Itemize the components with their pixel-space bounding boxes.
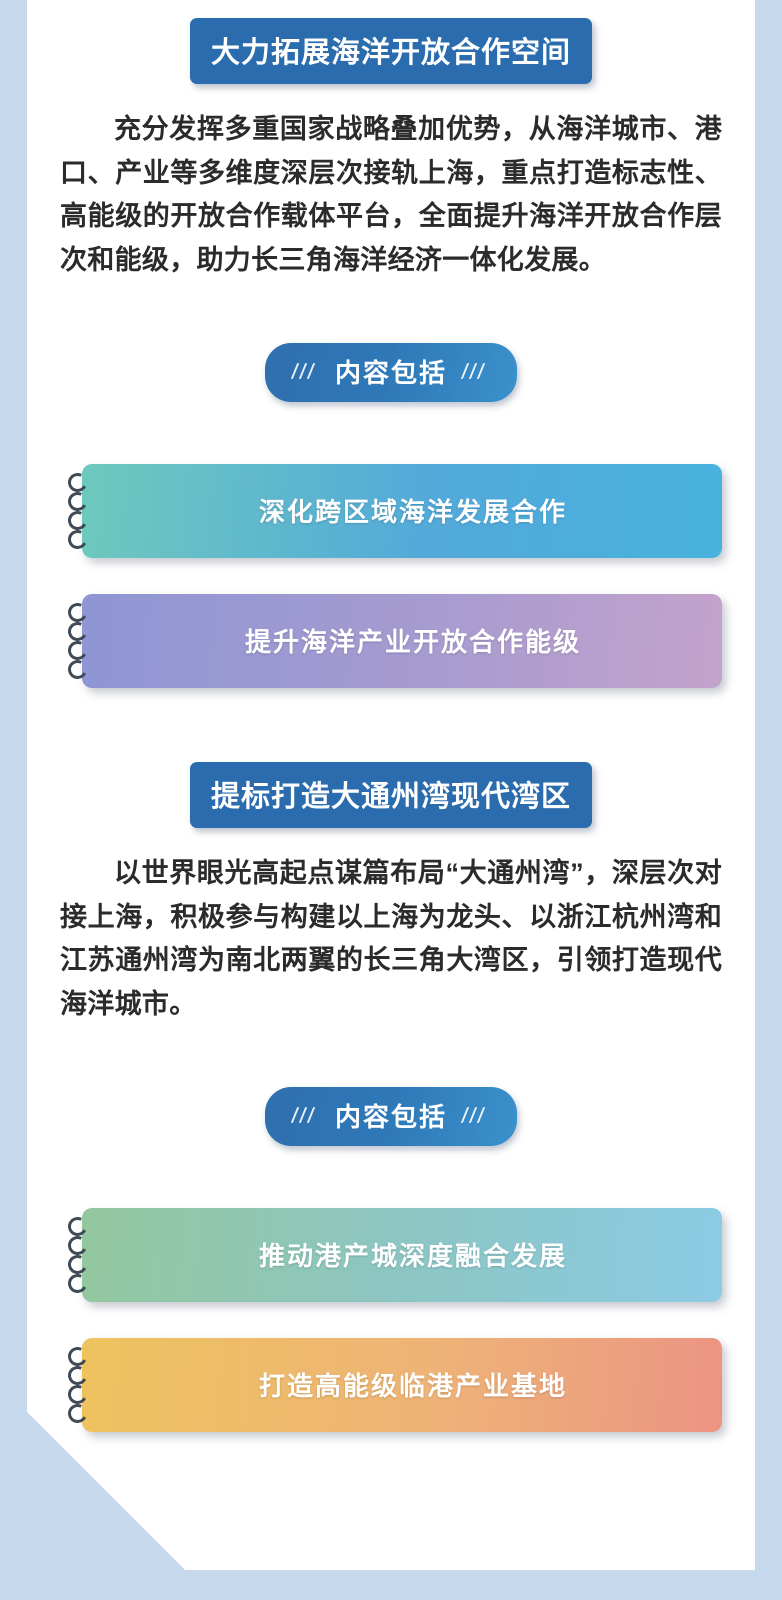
list-item-label: 打造高能级临港产业基地 [237, 1366, 567, 1403]
section-heading-2: 提标打造大通州湾现代湾区 [190, 762, 592, 828]
section-2-heading-wrap: 提标打造大通州湾现代湾区 [60, 762, 722, 828]
list-item-label: 深化跨区域海洋发展合作 [237, 492, 567, 529]
list-item[interactable]: 推动港产城深度融合发展 [82, 1208, 722, 1302]
includes-label-1: 内容包括 [335, 353, 447, 390]
list-item-label: 推动港产城深度融合发展 [237, 1236, 567, 1273]
triple-slash-icon-left [291, 1106, 321, 1124]
triple-slash-icon-left [291, 362, 321, 380]
list-item-label: 提升海洋产业开放合作能级 [223, 622, 581, 659]
includes-badge-2: 内容包括 [265, 1087, 517, 1146]
section-heading-1: 大力拓展海洋开放合作空间 [190, 18, 592, 84]
section-2-includes-wrap: 内容包括 [60, 1087, 722, 1146]
triple-slash-icon-right [461, 362, 491, 380]
section-2-paragraph: 以世界眼光高起点谋篇布局“大通州湾”，深层次对接上海，积极参与构建以上海为龙头、… [60, 852, 722, 1027]
list-item[interactable]: 提升海洋产业开放合作能级 [82, 594, 722, 688]
list-item[interactable]: 打造高能级临港产业基地 [82, 1338, 722, 1432]
section-1-paragraph: 充分发挥多重国家战略叠加优势，从海洋城市、港口、产业等多维度深层次接轨上海，重点… [60, 108, 722, 283]
section-1-heading-wrap: 大力拓展海洋开放合作空间 [60, 18, 722, 84]
spiral-ring-icon [68, 473, 102, 549]
list-item[interactable]: 深化跨区域海洋发展合作 [82, 464, 722, 558]
triple-slash-icon-right [461, 1106, 491, 1124]
includes-badge-1: 内容包括 [265, 343, 517, 402]
spiral-ring-icon [68, 1217, 102, 1293]
page-content: 大力拓展海洋开放合作空间 充分发挥多重国家战略叠加优势，从海洋城市、港口、产业等… [27, 0, 755, 1570]
spiral-ring-icon [68, 1347, 102, 1423]
includes-label-2: 内容包括 [335, 1097, 447, 1134]
spiral-ring-icon [68, 603, 102, 679]
section-1-includes-wrap: 内容包括 [60, 343, 722, 402]
